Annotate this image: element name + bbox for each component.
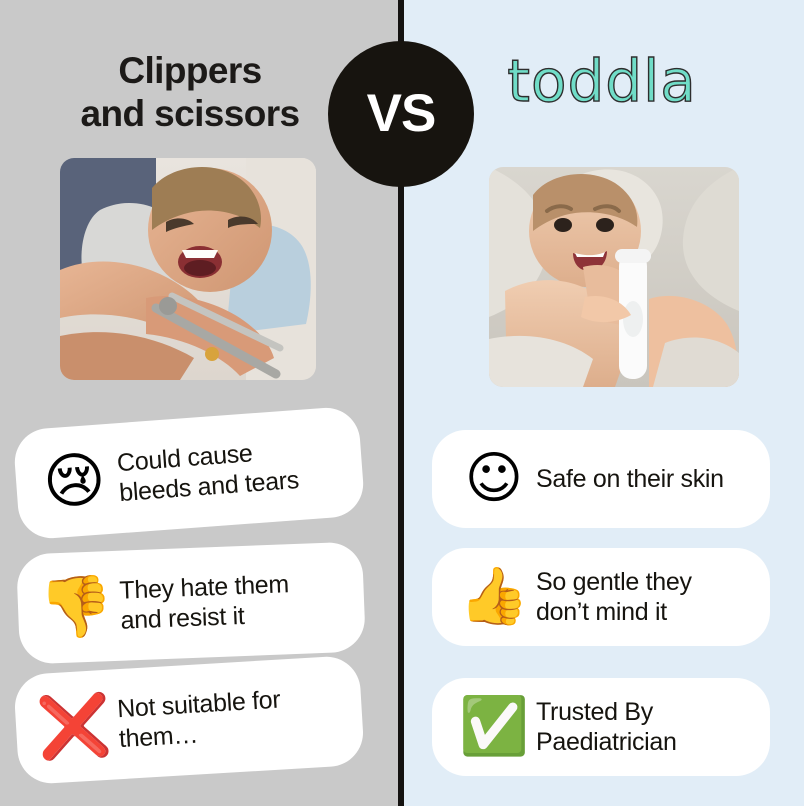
vs-badge: VS: [328, 41, 474, 187]
left-bullet-3-line-1: Not suitable for: [116, 686, 281, 724]
right-bullet-3-line-1: Trusted By: [536, 698, 653, 726]
comparison-infographic: Clippers and scissors toddla VS: [0, 0, 804, 806]
right-bullet-3-line-2: Paediatrician: [536, 728, 677, 756]
left-bullet-text-2: They hate them and resist it: [119, 569, 291, 635]
left-bullet-2-line-1: They hate them: [119, 570, 289, 604]
vs-label: VS: [367, 87, 436, 140]
left-bullet-text-1: Could cause bleeds and tears: [116, 435, 300, 508]
thumbs-up-emoji: 👍: [452, 569, 536, 625]
toddla-logo: toddla: [432, 52, 772, 110]
right-bullet-text-1: Safe on their skin: [536, 464, 724, 494]
right-photo-toddla-device: [489, 167, 739, 387]
smiling-face-emoji: ☺: [452, 451, 536, 507]
right-bullet-card-2[interactable]: 👍 So gentle they don’t mind it: [432, 548, 770, 646]
right-bullet-1-line-1: Safe on their skin: [536, 465, 724, 493]
left-bullet-text-3: Not suitable for them…: [116, 685, 283, 755]
right-bullet-card-3[interactable]: ✅ Trusted By Paediatrician: [432, 678, 770, 776]
right-bullet-text-3: Trusted By Paediatrician: [536, 697, 677, 757]
left-photo-illustration: [60, 158, 316, 380]
right-bullet-card-1[interactable]: ☺ Safe on their skin: [432, 430, 770, 528]
right-bullet-2-line-2: don’t mind it: [536, 598, 667, 626]
right-bullet-2-line-1: So gentle they: [536, 568, 692, 596]
cross-mark-emoji: ❌: [29, 694, 120, 759]
crying-face-emoji: 😢: [28, 448, 120, 514]
left-bullet-card-3[interactable]: ❌ Not suitable for them…: [13, 655, 365, 785]
thumbs-down-emoji: 👎: [31, 576, 121, 639]
right-bullet-text-2: So gentle they don’t mind it: [536, 567, 692, 627]
left-bullet-3-line-2: them…: [118, 721, 199, 754]
check-mark-button-emoji: ✅: [452, 699, 536, 755]
left-photo-clippers: [60, 158, 316, 380]
left-bullet-2-line-2: and resist it: [120, 602, 245, 635]
left-title-line-2: and scissors: [10, 93, 370, 136]
right-photo-illustration: [489, 167, 739, 387]
left-panel-title: Clippers and scissors: [10, 50, 370, 136]
left-bullet-card-2[interactable]: 👎 They hate them and resist it: [16, 541, 366, 664]
left-title-line-1: Clippers: [10, 50, 370, 93]
